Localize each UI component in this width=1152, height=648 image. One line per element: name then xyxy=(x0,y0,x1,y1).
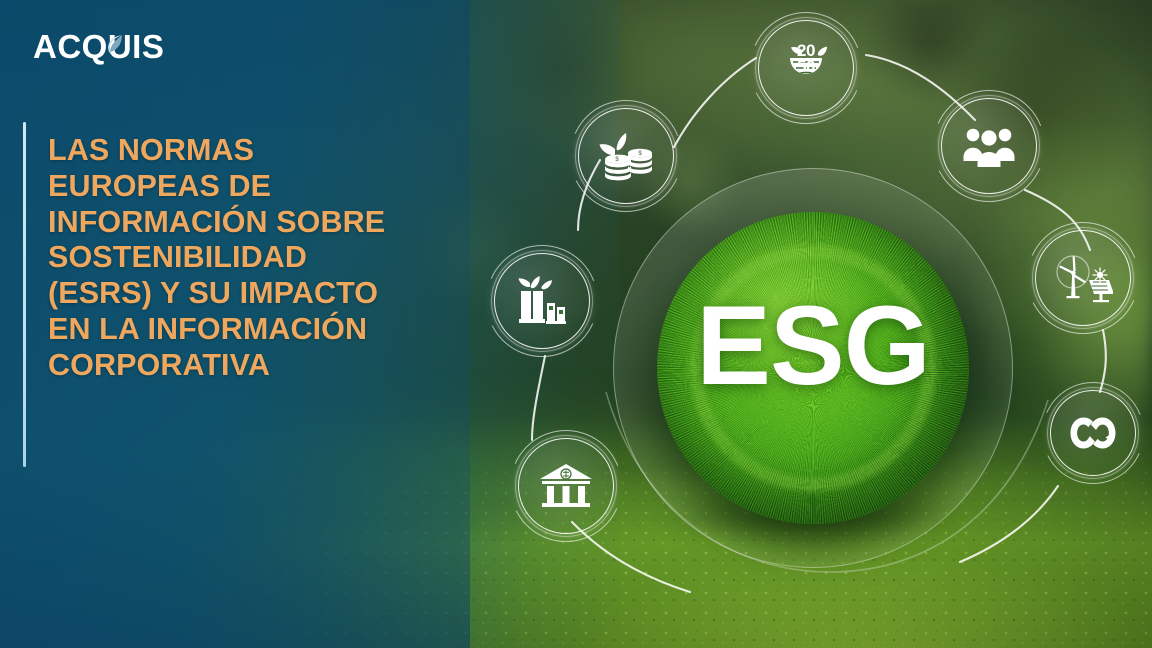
bank-building-icon xyxy=(538,462,594,510)
node-governance[interactable] xyxy=(518,438,614,534)
eco-factory-icon xyxy=(513,275,571,327)
banner-canvas: ACQUIS LAS NORMAS EUROPEAS DE INFORMACIÓ… xyxy=(0,0,1152,648)
esg-diagram: ESG 20 50 xyxy=(0,0,1152,648)
wind-solar-icon xyxy=(1053,252,1113,304)
people-group-icon xyxy=(962,125,1016,167)
globe-2050-icon xyxy=(776,38,836,98)
node-year-2050[interactable]: 20 50 xyxy=(758,20,854,116)
esg-label: ESG xyxy=(657,290,969,402)
node-social[interactable] xyxy=(941,98,1037,194)
node-renewable-energy[interactable] xyxy=(1035,230,1131,326)
node-green-industry[interactable] xyxy=(494,253,590,349)
svg-text:$: $ xyxy=(638,151,642,157)
svg-text:$: $ xyxy=(615,157,619,163)
infinity-recycle-icon xyxy=(1067,413,1119,453)
node-circular-economy[interactable] xyxy=(1050,390,1136,476)
year-2050-label: 20 50 xyxy=(759,43,853,74)
node-green-finance[interactable]: $ $ xyxy=(578,108,674,204)
coins-plant-icon: $ $ xyxy=(597,131,655,181)
